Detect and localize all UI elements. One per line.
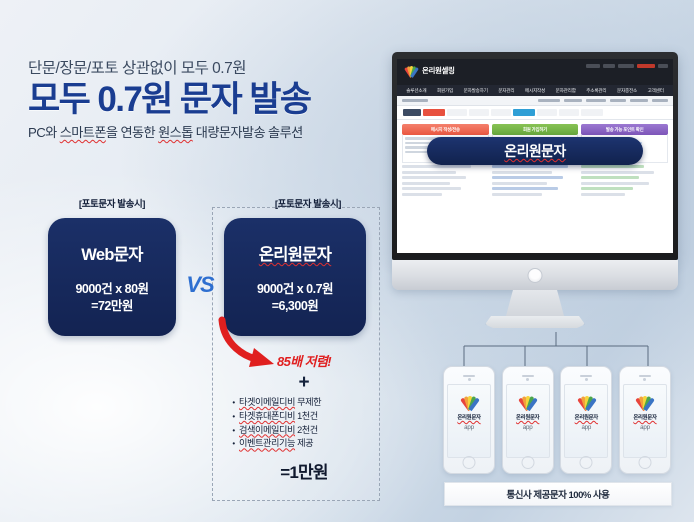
benefit-2-highlight: 검색이메일디비 (239, 425, 295, 435)
nav-item[interactable]: 회원가입 (437, 88, 453, 94)
left-card-caption: [포토문자 발송시] (42, 196, 182, 210)
camera-icon (643, 378, 646, 381)
subline-part-2: 스마트폰 (60, 125, 106, 140)
subline-part-3: 을 연동한 (106, 125, 158, 140)
phone-screen: 온리원문자 app (623, 384, 667, 458)
benefit-0-rest: 무제한 (295, 397, 321, 407)
footer-note-label: 통신사 제공문자 100% 사용 (507, 487, 610, 501)
nav-item[interactable]: 주소록관리 (586, 88, 606, 94)
page-title: 모두 0.7원 문자 발송 (28, 81, 368, 118)
app-label: app (640, 424, 650, 431)
savings-label: 85배 저렴! (234, 351, 374, 370)
right-card-caption: [포토문자 발송시] (234, 196, 382, 210)
monitor-stand-base (485, 316, 585, 328)
monitor-home-button-icon (528, 268, 543, 283)
nav-item[interactable]: 문자관리함 (556, 88, 576, 94)
benefit-list: • 타겟이메일디비 무제한 • 타겟휴대폰디비 1천건 • 검색이메일디비 2천… (228, 396, 378, 451)
panel-header-label: 메시지 작성/전송 (431, 127, 460, 133)
bullet-icon: • (228, 437, 239, 451)
web-sms-card: Web문자 9000건 x 80원=72만원 (48, 218, 176, 336)
speaker-icon (639, 375, 651, 377)
site-main-nav[interactable]: 솔루션소개 회원가입 문자발송하기 문자관리 메시지작성 문자관리함 주소록관리… (397, 85, 673, 96)
desktop-monitor: 온리원셀링 솔루션소개 회원가입 문자발송하기 문자관리 메시지작성 문자관리함 (392, 52, 678, 328)
table-column (402, 165, 489, 198)
connector-diagram (440, 332, 672, 370)
site-utility-nav[interactable] (586, 64, 668, 68)
app-name: 온리원문자 (516, 413, 539, 421)
nav-item[interactable]: 고객센터 (648, 88, 664, 94)
nav-item[interactable]: 문자충전소 (617, 88, 637, 94)
web-sms-title: Web문자 (48, 241, 176, 265)
fan-logo-icon (577, 394, 596, 410)
breadcrumb (397, 96, 673, 106)
site-header: 온리원셀링 (397, 59, 673, 85)
app-label: app (581, 424, 591, 431)
headline-subline: PC와 스마트폰을 연동한 원스톱 대량문자발송 솔루션 (28, 122, 368, 141)
list-item: • 이벤트관리기능 제공 (228, 437, 378, 451)
bullet-icon: • (228, 396, 239, 410)
benefit-3-rest: 제공 (295, 438, 313, 448)
filter-tab-row[interactable] (397, 106, 673, 120)
web-sms-amount-line1: 9000건 x 80원 (75, 282, 148, 296)
phone-row: 온리원문자 app 온리원문자 app (443, 366, 671, 474)
list-item: • 타겟이메일디비 무제한 (228, 396, 378, 410)
panel-header-label: 회원 가입하기 (523, 127, 547, 133)
table-column (492, 165, 579, 198)
fan-logo-icon (404, 64, 419, 77)
footer-note: 통신사 제공문자 100% 사용 (444, 482, 672, 506)
app-name: 온리원문자 (457, 413, 480, 421)
speaker-icon (463, 375, 475, 377)
fan-logo-icon (460, 394, 479, 410)
camera-icon (468, 378, 471, 381)
monitor-screen: 온리원셀링 솔루션소개 회원가입 문자발송하기 문자관리 메시지작성 문자관리함 (397, 59, 673, 253)
list-item: • 타겟휴대폰디비 1천건 (228, 410, 378, 424)
app-name: 온리원문자 (575, 413, 598, 421)
nav-item[interactable]: 문자관리 (498, 88, 514, 94)
phone-home-button-icon (463, 456, 476, 469)
app-name: 온리원문자 (633, 413, 656, 421)
benefit-0-highlight: 타겟이메일디비 (239, 397, 295, 407)
subline-part-1: PC와 (28, 125, 60, 140)
onlyone-sms-amount-line2: =6,300원 (272, 299, 319, 313)
benefit-1-highlight: 타겟휴대폰디비 (239, 411, 295, 421)
onlyone-sms-amount: 9000건 x 0.7원=6,300원 (224, 281, 366, 314)
speaker-icon (580, 375, 592, 377)
phone-device[interactable]: 온리원문자 app (502, 366, 554, 474)
nav-item[interactable]: 메시지작성 (525, 88, 545, 94)
bullet-icon: • (228, 424, 239, 438)
phone-home-button-icon (580, 456, 593, 469)
monitor-stand-neck (506, 290, 564, 316)
subline-part-4: 원스톱 (158, 125, 193, 140)
list-item: • 검색이메일디비 2천건 (228, 424, 378, 438)
phone-screen: 온리원문자 app (506, 384, 550, 458)
overlay-badge-label: 온리원문자 (504, 141, 565, 161)
promo-banner: 단문/장문/포토 상관없이 모두 0.7원 모두 0.7원 문자 발송 PC와 … (0, 0, 694, 522)
vs-label: VS (182, 272, 218, 298)
app-label: app (464, 424, 474, 431)
phone-home-button-icon (521, 456, 534, 469)
site-logo[interactable]: 온리원셀링 (404, 64, 455, 77)
web-sms-amount: 9000건 x 80원=72만원 (48, 281, 176, 314)
app-label: app (523, 424, 533, 431)
phone-device[interactable]: 온리원문자 app (619, 366, 671, 474)
phone-screen: 온리원문자 app (447, 384, 491, 458)
onlyone-sms-amount-line1: 9000건 x 0.7원 (257, 282, 333, 296)
onlyone-sms-overlay-badge: 온리원문자 (427, 137, 643, 165)
benefit-3-highlight: 이벤트관리기능 (239, 438, 295, 448)
phone-home-button-icon (638, 456, 651, 469)
monitor-chin (392, 260, 678, 290)
site-logo-text: 온리원셀링 (422, 65, 455, 76)
camera-icon (585, 378, 588, 381)
fan-logo-icon (518, 394, 537, 410)
camera-icon (526, 378, 529, 381)
nav-item[interactable]: 문자발송하기 (464, 88, 488, 94)
data-table-area (397, 163, 673, 200)
web-sms-amount-line2: =72만원 (91, 299, 133, 313)
phone-device[interactable]: 온리원문자 app (443, 366, 495, 474)
benefit-2-rest: 2천건 (295, 425, 318, 435)
panel-header-label: 발송 가능 포인트 확인 (606, 127, 644, 133)
headline-block: 단문/장문/포토 상관없이 모두 0.7원 모두 0.7원 문자 발송 PC와 … (28, 56, 368, 141)
benefit-1-rest: 1천건 (295, 411, 318, 421)
headline-kicker: 단문/장문/포토 상관없이 모두 0.7원 (28, 56, 368, 78)
bullet-icon: • (228, 410, 239, 424)
phone-screen: 온리원문자 app (564, 384, 608, 458)
plus-sign: + (234, 372, 374, 394)
monitor-bezel: 온리원셀링 솔루션소개 회원가입 문자발송하기 문자관리 메시지작성 문자관리함 (392, 52, 678, 260)
nav-item[interactable]: 솔루션소개 (406, 88, 426, 94)
total-price-label: =1만원 (234, 458, 374, 483)
fan-logo-icon (635, 394, 654, 410)
speaker-icon (522, 375, 534, 377)
phone-device[interactable]: 온리원문자 app (560, 366, 612, 474)
table-column (581, 165, 668, 198)
subline-part-5: 대량문자발송 솔루션 (193, 125, 303, 140)
onlyone-sms-title: 온리원문자 (224, 241, 366, 265)
